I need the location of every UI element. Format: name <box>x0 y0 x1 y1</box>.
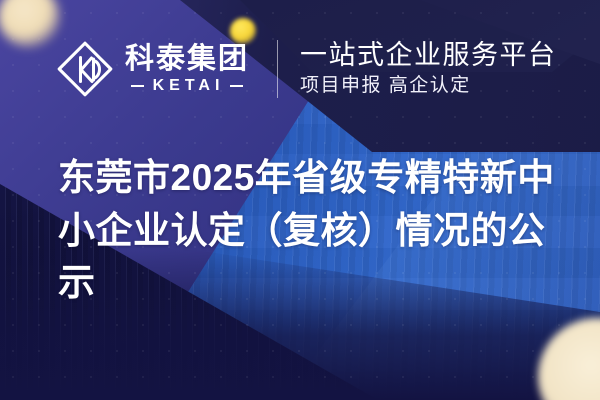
tagline-main: 一站式企业服务平台 <box>300 41 557 71</box>
dash-left-icon <box>131 85 144 87</box>
banner-title: 东莞市2025年省级专精特新中小企业认定（复核）情况的公示 <box>58 152 558 310</box>
ketai-diamond-kt-logo-icon <box>56 40 114 98</box>
brand-name-en-row: KETAI <box>125 78 249 94</box>
brand-logo: 科泰集团 KETAI <box>56 40 249 98</box>
banner-header: 科泰集团 KETAI 一站式企业服务平台 项目申报 高企认定 <box>56 40 557 98</box>
brand-wordmark: 科泰集团 KETAI <box>125 44 249 94</box>
brand-name-en: KETAI <box>150 78 225 94</box>
brand-name-cn: 科泰集团 <box>125 44 249 75</box>
vertical-divider <box>277 40 278 98</box>
tagline-block: 一站式企业服务平台 项目申报 高企认定 <box>300 41 557 97</box>
tagline-sub: 项目申报 高企认定 <box>300 76 557 97</box>
promo-banner: 科泰集团 KETAI 一站式企业服务平台 项目申报 高企认定 东莞市2025年省… <box>0 0 600 400</box>
dash-right-icon <box>230 85 243 87</box>
